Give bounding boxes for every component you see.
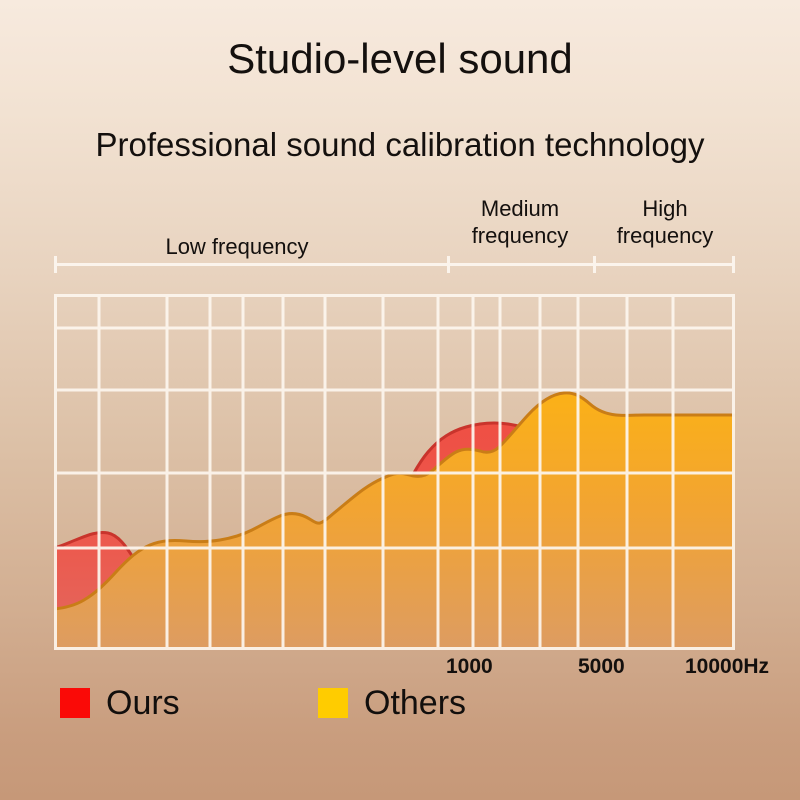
- series-fill-others: [54, 393, 735, 650]
- legend-item-ours: Ours: [60, 686, 180, 720]
- frequency-band-ruler: Low frequency Medium frequency High freq…: [0, 190, 800, 270]
- ruler-tick-low-medium: [447, 256, 450, 273]
- page-title: Studio-level sound: [0, 36, 800, 82]
- legend-swatch-ours-icon: [60, 688, 90, 718]
- band-label-low: Low frequency: [144, 234, 330, 261]
- page-subtitle: Professional sound calibration technolog…: [0, 127, 800, 163]
- poster-root: Studio-level sound Professional sound ca…: [0, 0, 800, 800]
- x-tick-label-10000: 10000Hz: [685, 655, 769, 679]
- band-label-medium: Medium frequency: [452, 196, 588, 250]
- frequency-response-chart: [54, 294, 735, 650]
- x-tick-label-1000: 1000: [446, 655, 493, 679]
- legend-label-ours: Ours: [106, 686, 180, 720]
- series-area-others: [54, 393, 735, 650]
- ruler-tick-medium-high: [593, 256, 596, 273]
- ruler-tick-end: [732, 256, 735, 273]
- legend-label-others: Others: [364, 686, 466, 720]
- band-label-high: High frequency: [598, 196, 732, 250]
- ruler-baseline: [54, 263, 735, 266]
- legend-item-others: Others: [318, 686, 466, 720]
- ruler-tick-start: [54, 256, 57, 273]
- x-tick-label-5000: 5000: [578, 655, 625, 679]
- chart-svg: [54, 294, 735, 650]
- legend-swatch-others-icon: [318, 688, 348, 718]
- chart-legend: Ours Others: [60, 686, 560, 732]
